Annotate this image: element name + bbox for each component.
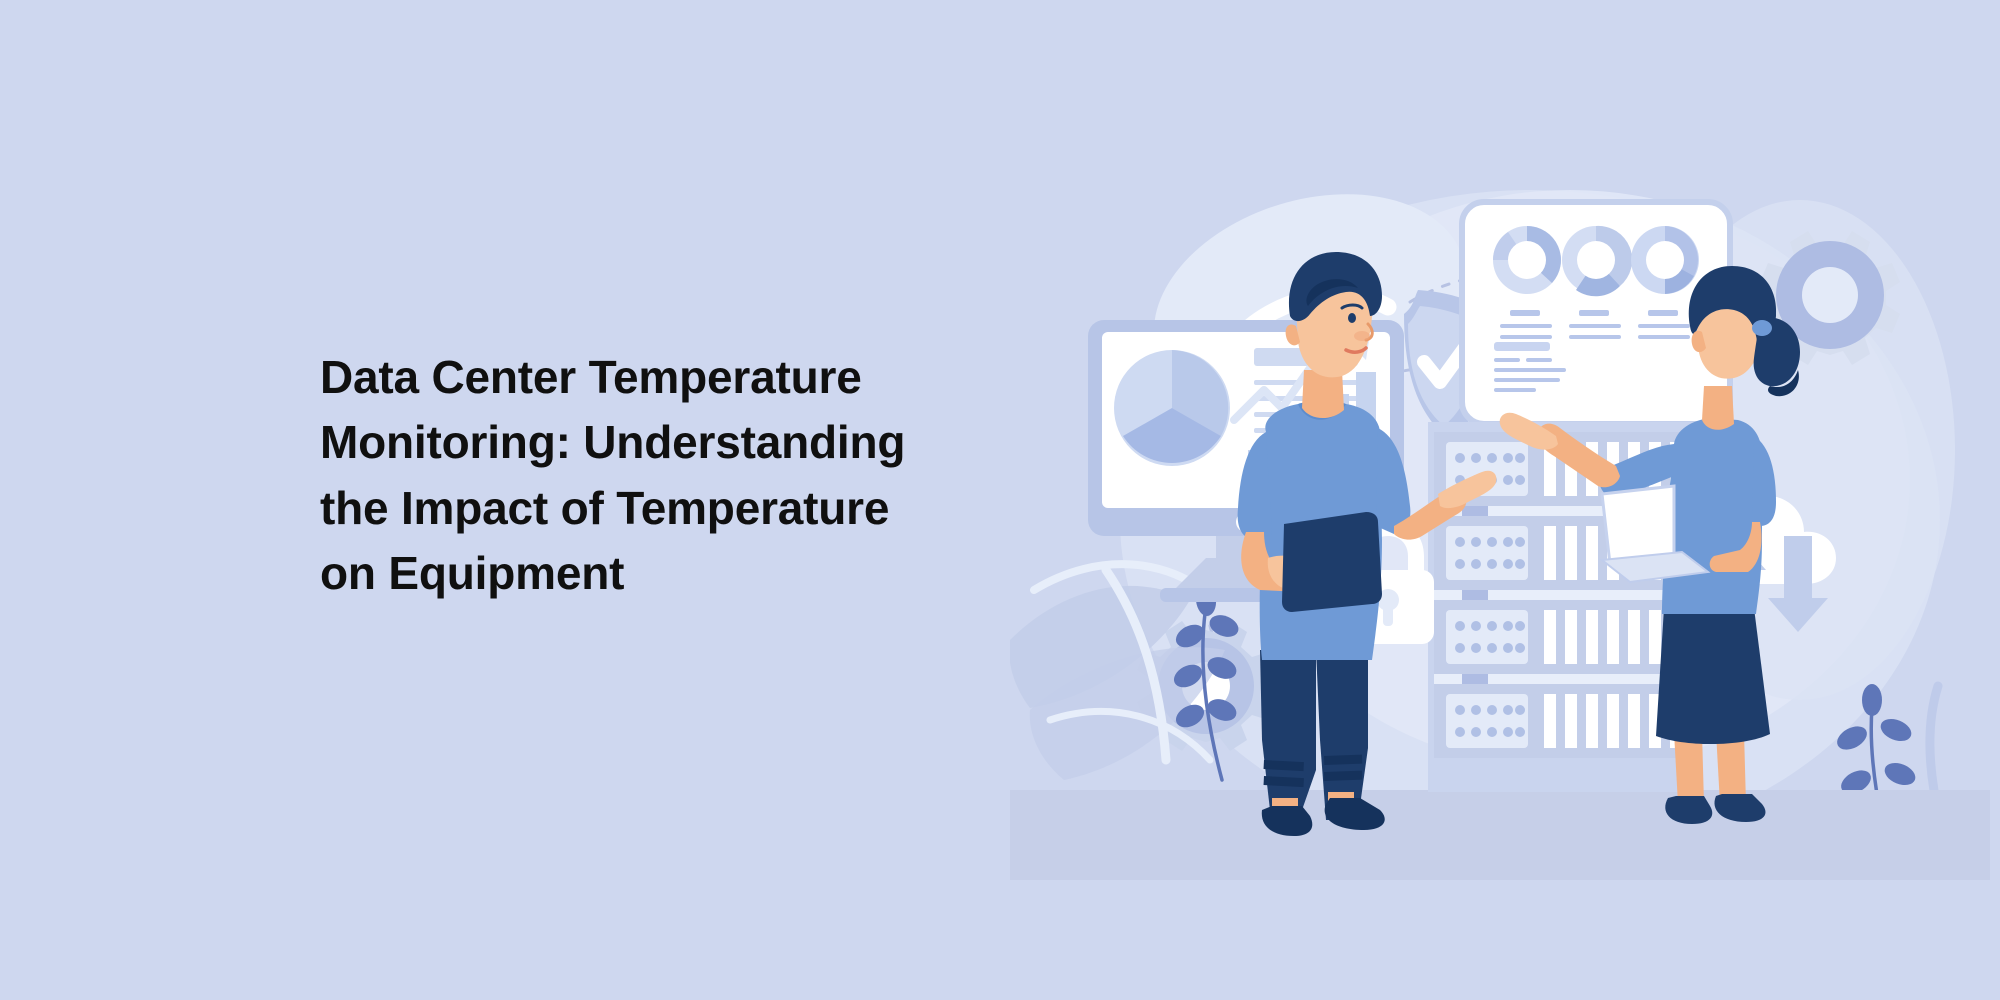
pie-chart <box>1114 350 1230 466</box>
tablet <box>1282 512 1382 612</box>
hero-title-block: Data Center Temperature Monitoring: Unde… <box>320 345 1000 606</box>
donut-chart <box>1631 226 1699 294</box>
donut-chart <box>1493 226 1561 294</box>
article-hero-banner: Data Center Temperature Monitoring: Unde… <box>0 0 2000 1000</box>
hero-illustration <box>1010 120 1990 880</box>
server-unit <box>1434 600 1696 684</box>
page-title: Data Center Temperature Monitoring: Unde… <box>320 345 1000 606</box>
server-unit <box>1434 684 1696 758</box>
floor <box>1010 790 1990 880</box>
